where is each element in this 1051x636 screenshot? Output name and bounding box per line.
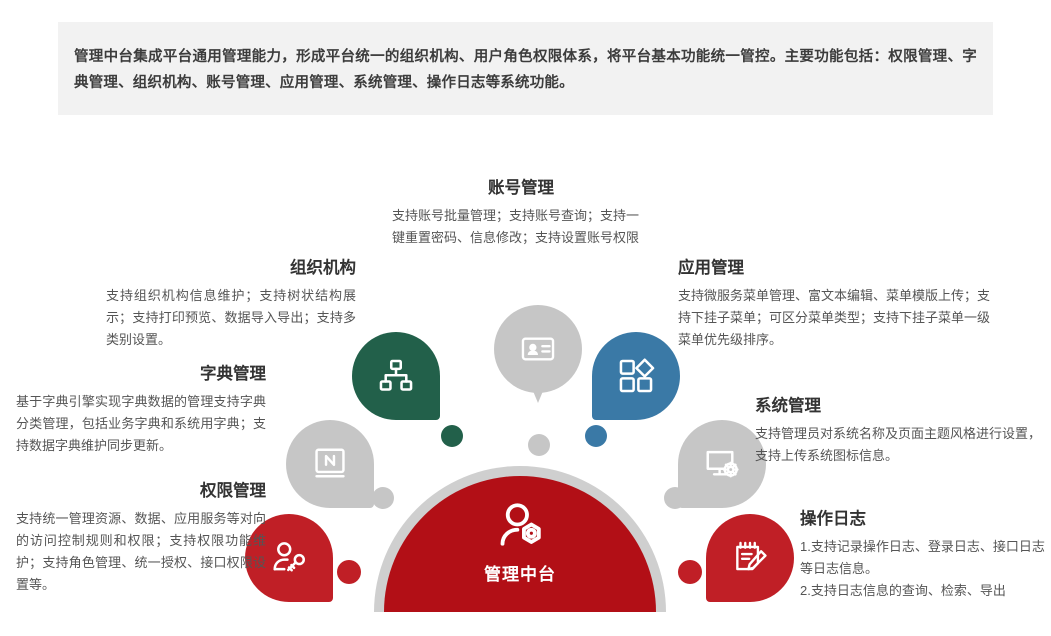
- notepad-pencil-icon: [706, 514, 794, 602]
- feature-dict-title: 字典管理: [16, 364, 266, 384]
- feature-log-title: 操作日志: [800, 509, 1045, 529]
- feature-perm: 权限管理 支持统一管理资源、数据、应用服务等对向的访问控制规则和权限；支持权限功…: [16, 481, 266, 596]
- id-card-icon: [494, 305, 582, 393]
- pin-dict[interactable]: [286, 420, 374, 508]
- feature-app-title: 应用管理: [678, 258, 1000, 278]
- pin-sys-dot: [664, 487, 686, 509]
- pin-perm-dot: [337, 560, 361, 584]
- feature-org-body: 支持组织机构信息维护；支持树状结构展示；支持打印预览、数据导入导出；支持多类别设…: [106, 285, 356, 351]
- feature-account-body: 支持账号批量管理；支持账号查询；支持一键重置密码、信息修改；支持设置账号权限: [392, 205, 650, 249]
- pin-org-dot: [441, 425, 463, 447]
- user-gear-icon: [492, 500, 548, 556]
- monitor-gear-icon: [678, 420, 766, 508]
- feature-perm-title: 权限管理: [16, 481, 266, 501]
- feature-account: 账号管理 支持账号批量管理；支持账号查询；支持一键重置密码、信息修改；支持设置账…: [392, 178, 650, 249]
- feature-account-title: 账号管理: [392, 178, 650, 198]
- feature-log: 操作日志 1.支持记录操作日志、登录日志、接口日志等日志信息。 2.支持日志信息…: [800, 509, 1045, 602]
- feature-app-body: 支持微服务菜单管理、富文本编辑、菜单模版上传；支持下挂子菜单；可区分菜单类型；支…: [678, 285, 1000, 351]
- feature-sys-title: 系统管理: [755, 396, 1041, 416]
- org-chart-icon: [352, 332, 440, 420]
- dictionary-book-icon: [286, 420, 374, 508]
- pin-log[interactable]: [706, 514, 794, 602]
- feature-log-body: 1.支持记录操作日志、登录日志、接口日志等日志信息。 2.支持日志信息的查询、检…: [800, 536, 1045, 602]
- pin-dict-dot: [372, 487, 394, 509]
- feature-org: 组织机构 支持组织机构信息维护；支持树状结构展示；支持打印预览、数据导入导出；支…: [106, 258, 356, 351]
- feature-dict-body: 基于字典引擎实现字典数据的管理支持字典分类管理，包括业务字典和系统用字典；支持数…: [16, 391, 266, 457]
- feature-dict: 字典管理 基于字典引擎实现字典数据的管理支持字典分类管理，包括业务字典和系统用字…: [16, 364, 266, 457]
- pin-sys[interactable]: [678, 420, 766, 508]
- feature-sys: 系统管理 支持管理员对系统名称及页面主题风格进行设置，支持上传系统图标信息。: [755, 396, 1041, 467]
- pin-org[interactable]: [352, 332, 440, 420]
- pin-app-dot: [585, 425, 607, 447]
- feature-sys-body: 支持管理员对系统名称及页面主题风格进行设置，支持上传系统图标信息。: [755, 423, 1041, 467]
- hub-label: 管理中台: [484, 560, 556, 585]
- feature-perm-body: 支持统一管理资源、数据、应用服务等对向的访问控制规则和权限；支持权限功能维护；支…: [16, 508, 266, 596]
- intro-banner: 管理中台集成平台通用管理能力，形成平台统一的组织机构、用户角色权限体系，将平台基…: [58, 22, 993, 115]
- pin-app[interactable]: [592, 332, 680, 420]
- intro-banner-text: 管理中台集成平台通用管理能力，形成平台统一的组织机构、用户角色权限体系，将平台基…: [74, 44, 977, 96]
- feature-app: 应用管理 支持微服务菜单管理、富文本编辑、菜单模版上传；支持下挂子菜单；可区分菜…: [678, 258, 1000, 351]
- hub-management-center[interactable]: 管理中台: [384, 476, 656, 612]
- pin-log-dot: [678, 560, 702, 584]
- feature-org-title: 组织机构: [106, 258, 356, 278]
- app-grid-icon: [592, 332, 680, 420]
- pin-account[interactable]: [494, 305, 582, 393]
- pin-account-dot: [528, 434, 550, 456]
- infographic-canvas: 管理中台集成平台通用管理能力，形成平台统一的组织机构、用户角色权限体系，将平台基…: [0, 0, 1051, 636]
